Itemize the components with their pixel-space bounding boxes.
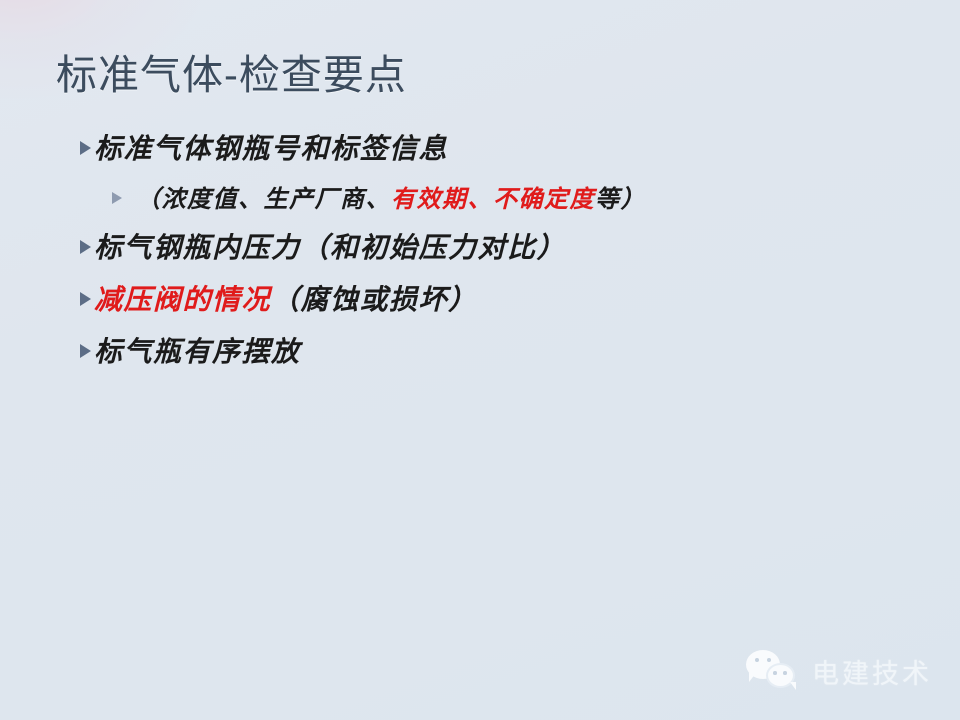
bullet-text: 减压阀的情况（腐蚀或损坏） — [94, 283, 478, 317]
watermark: 电建技术 — [746, 648, 932, 694]
bullet-row: 标气钢瓶内压力（和初始压力对比） — [80, 231, 930, 273]
bullet-text: 标气钢瓶内压力（和初始压力对比） — [94, 231, 566, 265]
bullet-text-segment: （腐蚀或损坏） — [271, 283, 478, 316]
bullet-text: 标气瓶有序摆放 — [94, 335, 301, 369]
bullet-row: （浓度值、生产厂商、有效期、不确定度等） — [112, 184, 930, 222]
bullet-list: 标准气体钢瓶号和标签信息（浓度值、生产厂商、有效期、不确定度等）标气钢瓶内压力（… — [80, 132, 930, 387]
triangle-right-icon — [112, 192, 122, 204]
triangle-right-icon — [80, 292, 91, 306]
bullet-text-segment: 等） — [595, 184, 646, 213]
page-title: 标准气体-检查要点 — [56, 52, 896, 99]
bullet-text-segment: 减压阀的情况 — [94, 283, 271, 316]
bullet-text-segment: 有效期、不确定度 — [391, 184, 595, 213]
bullet-text-segment: （浓度值、生产厂商、 — [136, 184, 391, 213]
triangle-right-icon — [80, 240, 91, 254]
bullet-text-segment: 标准气体钢瓶号和标签信息 — [94, 132, 448, 165]
bullet-text: （浓度值、生产厂商、有效期、不确定度等） — [136, 184, 646, 214]
triangle-right-icon — [80, 344, 91, 358]
watermark-label: 电建技术 — [812, 652, 932, 691]
bullet-text-segment: 标气瓶有序摆放 — [94, 335, 301, 368]
wechat-icon — [746, 648, 802, 694]
bullet-text: 标准气体钢瓶号和标签信息 — [94, 132, 448, 166]
bullet-row: 标气瓶有序摆放 — [80, 335, 930, 377]
bullet-row: 减压阀的情况（腐蚀或损坏） — [80, 283, 930, 325]
slide-canvas: 标准气体-检查要点 标准气体钢瓶号和标签信息（浓度值、生产厂商、有效期、不确定度… — [0, 0, 960, 720]
bullet-row: 标准气体钢瓶号和标签信息 — [80, 132, 930, 174]
bullet-text-segment: 标气钢瓶内压力（和初始压力对比） — [94, 231, 566, 264]
title-block: 标准气体-检查要点 — [56, 52, 896, 99]
triangle-right-icon — [80, 141, 91, 155]
